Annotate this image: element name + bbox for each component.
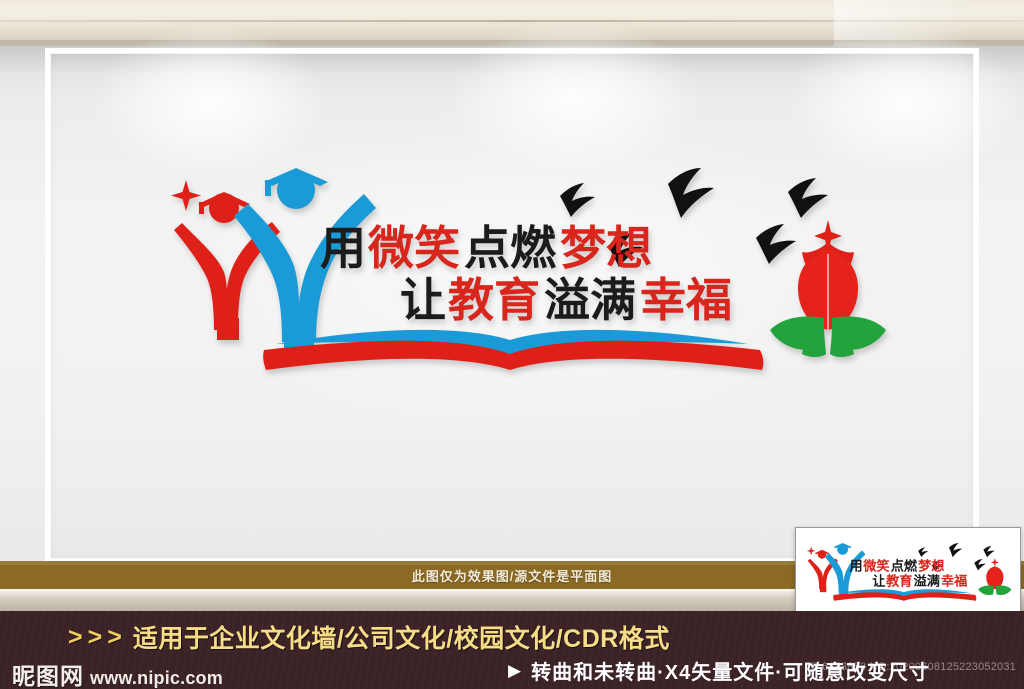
chevron-arrows-icon: >>> xyxy=(68,623,127,652)
bird-icon-5 xyxy=(756,224,796,264)
svg-text:幸福: 幸福 xyxy=(640,273,732,327)
svg-text:教育: 教育 xyxy=(448,273,540,327)
bird-icon-4 xyxy=(788,178,828,218)
slogan-line-1: 用 微笑 点燃 梦想 xyxy=(320,221,652,275)
svg-text:让: 让 xyxy=(872,572,885,589)
open-book-graphic xyxy=(263,330,763,370)
tulip-flower xyxy=(770,220,886,357)
red-sparkle xyxy=(171,180,201,211)
brand-url[interactable]: www.nipic.com xyxy=(90,668,223,689)
svg-text:用: 用 xyxy=(320,221,366,275)
svg-text:溢满: 溢满 xyxy=(544,273,636,327)
red-student-figure xyxy=(174,192,280,340)
svg-text:教育: 教育 xyxy=(885,572,912,589)
culture-wall-artwork: 用 微笑 点燃 梦想 让 教育 溢满 幸福 xyxy=(168,168,888,378)
thumbnail-artwork: 用 微笑 点燃 梦想 让 教育 溢满 幸福 xyxy=(806,542,1012,604)
svg-text:用: 用 xyxy=(849,558,862,574)
svg-text:点燃: 点燃 xyxy=(464,221,557,275)
bird-icon-2 xyxy=(668,168,714,218)
screenshot-stage: 用 微笑 点燃 梦想 让 教育 溢满 幸福 此图仅为效果图/源文件是平面图 xyxy=(0,0,1024,689)
svg-text:梦想: 梦想 xyxy=(918,557,944,574)
svg-text:微笑: 微笑 xyxy=(862,557,889,574)
bird-icon-1 xyxy=(560,183,595,217)
svg-text:幸福: 幸福 xyxy=(941,572,967,589)
svg-text:梦想: 梦想 xyxy=(560,221,652,275)
play-triangle-icon: ▶ xyxy=(508,661,521,681)
svg-text:微笑: 微笑 xyxy=(367,221,460,275)
slogan-line-2: 让 教育 溢满 幸福 xyxy=(400,273,732,327)
brand-name-cn: 昵图网 xyxy=(12,657,84,689)
svg-text:点燃: 点燃 xyxy=(891,557,918,574)
svg-text:让: 让 xyxy=(400,273,446,327)
svg-text:溢满: 溢满 xyxy=(914,572,940,589)
brand-watermark[interactable]: 昵图网 www.nipic.com xyxy=(12,657,223,689)
asset-id-watermark: ID:6173853 NO:20200608125223052031 xyxy=(807,661,1016,673)
footer-tagline: >>> 适用于企业文化墙/公司文化/校园文化/CDR格式 xyxy=(68,619,670,655)
footer-tagline-text: 适用于企业文化墙/公司文化/校园文化/CDR格式 xyxy=(133,619,670,655)
